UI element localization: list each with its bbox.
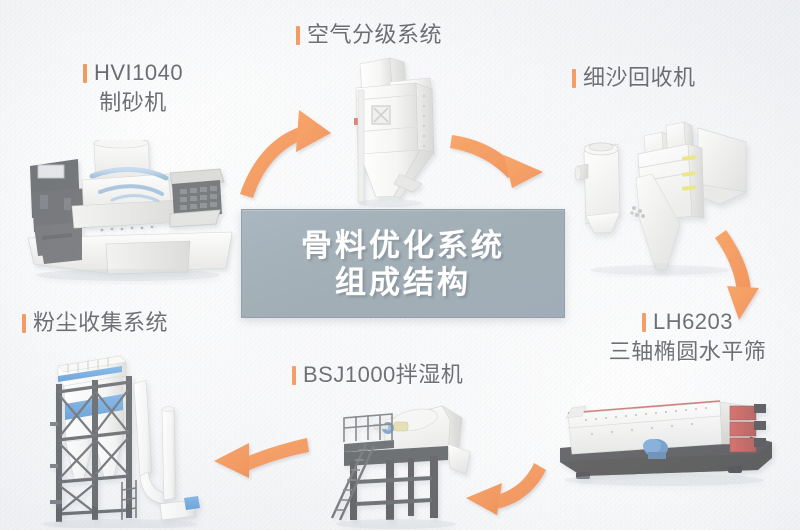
arrow-classifier-to-recycler <box>450 135 543 188</box>
node-label-air-classifier-line1: 空气分级系统 <box>296 20 442 50</box>
node-label-air-classifier[interactable]: 空气分级系统 <box>296 20 442 50</box>
node-label-dust-collector[interactable]: 粉尘收集系统 <box>22 308 168 338</box>
equipment-vsi-sand-making-machine <box>20 140 240 285</box>
equipment-bag-house-dust-collector <box>34 348 209 528</box>
center-title-plate: 骨料优化系统 组成结构 <box>241 209 565 318</box>
equipment-wet-mixer-on-platform <box>330 398 495 530</box>
node-label-sand-recycler-line1: 细沙回收机 <box>572 63 696 93</box>
node-label-horizontal-screen-line2: 三轴椭圆水平筛 <box>580 337 795 367</box>
node-label-wet-mixer-line1: BSJ1000拌湿机 <box>292 360 463 390</box>
label-marker-bar-icon <box>642 313 646 332</box>
node-label-sand-recycler[interactable]: 细沙回收机 <box>572 63 696 93</box>
diagram-canvas: 骨料优化系统 组成结构 HVI1040 制砂机 空气分级系统 细沙回收机 LH6… <box>0 0 800 530</box>
node-label-sand-maker-line1: HVI1040 <box>58 58 208 88</box>
center-title-line2: 组成结构 <box>335 264 471 301</box>
node-label-dust-collector-line1: 粉尘收集系统 <box>22 308 168 338</box>
label-marker-bar-icon <box>83 64 87 83</box>
center-title-line1: 骨料优化系统 <box>301 227 505 264</box>
label-marker-bar-icon <box>22 314 26 333</box>
node-label-horizontal-screen[interactable]: LH6203 三轴椭圆水平筛 <box>580 307 795 367</box>
label-marker-bar-icon <box>296 26 300 45</box>
node-label-horizontal-screen-line1: LH6203 <box>580 307 795 337</box>
arrow-mixer-to-dust-collector <box>214 438 309 478</box>
equipment-air-classifier-tower <box>338 56 450 208</box>
label-marker-bar-icon <box>572 69 576 88</box>
equipment-triaxial-elliptical-horizontal-screen <box>552 392 782 502</box>
node-label-wet-mixer[interactable]: BSJ1000拌湿机 <box>292 360 463 390</box>
label-marker-bar-icon <box>292 366 296 385</box>
arrow-sand-maker-to-classifier <box>240 110 331 198</box>
node-label-sand-maker[interactable]: HVI1040 制砂机 <box>58 58 208 118</box>
equipment-fine-sand-recycling-machine <box>570 112 770 277</box>
node-label-sand-maker-line2: 制砂机 <box>58 88 208 118</box>
